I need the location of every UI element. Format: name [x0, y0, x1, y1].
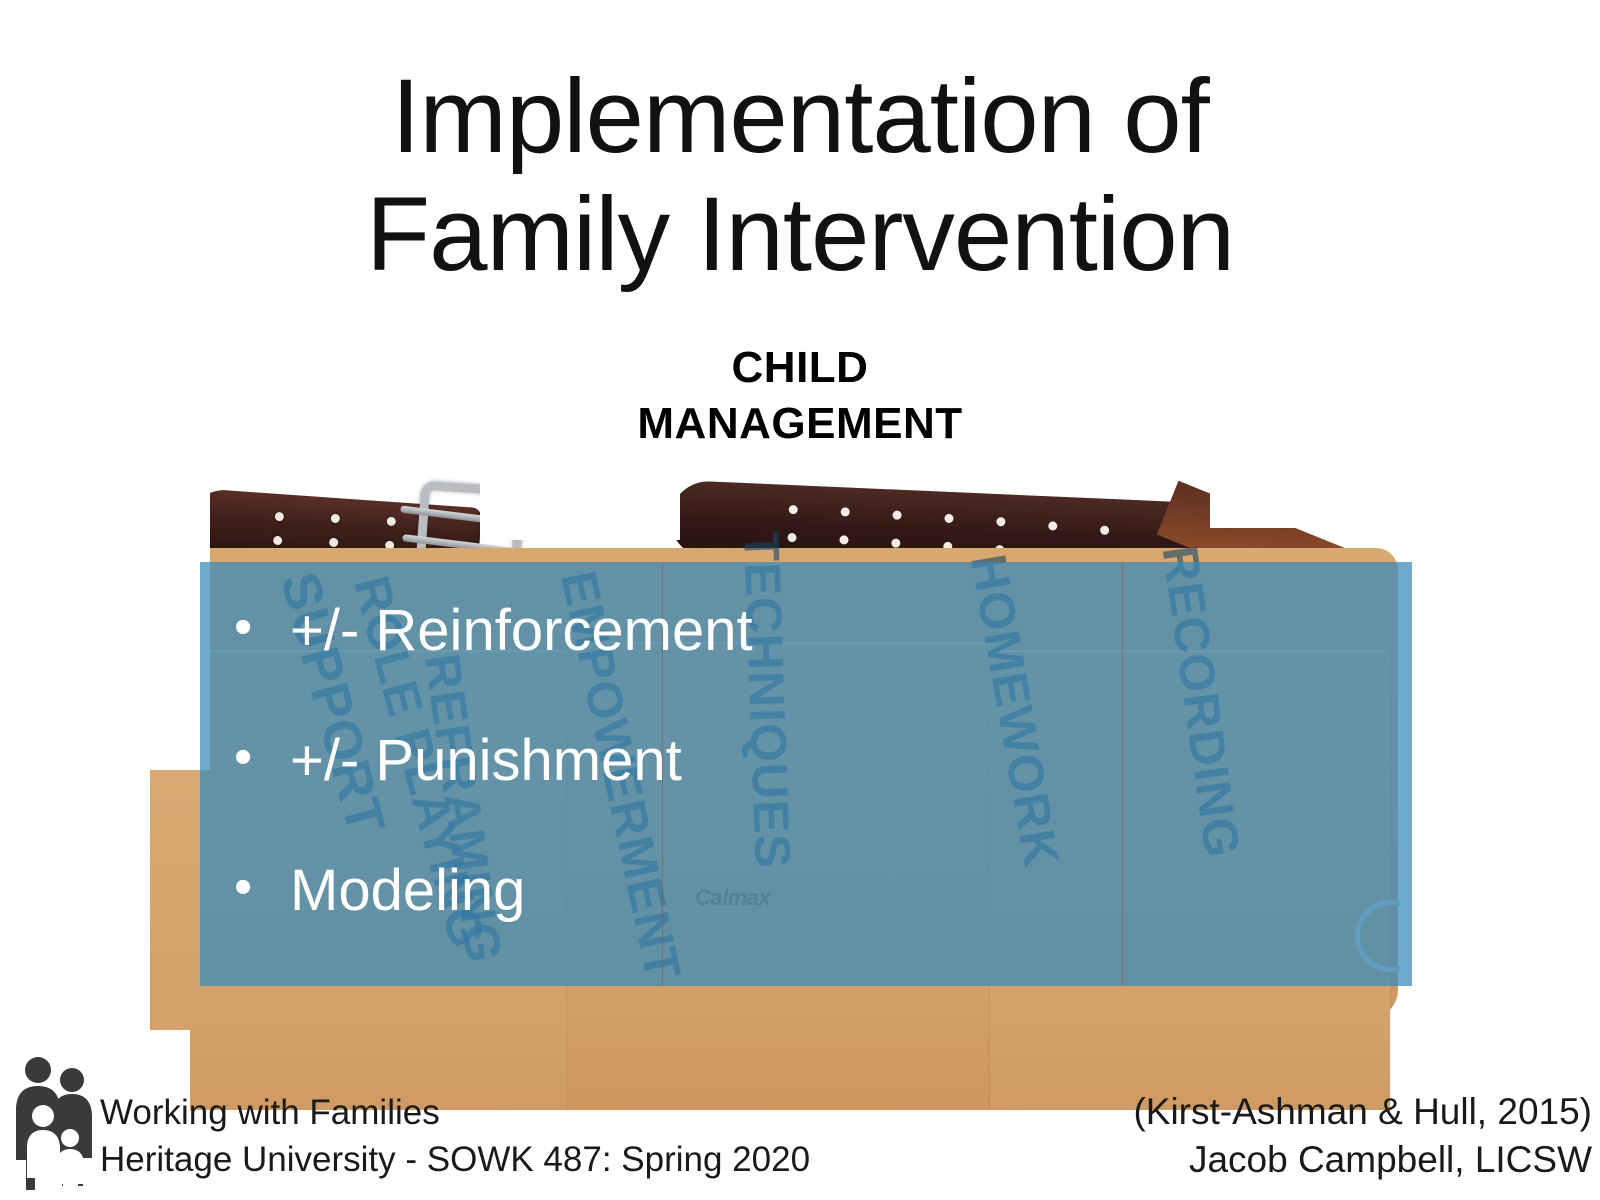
title-line-2: Family Intervention [0, 176, 1600, 294]
bullet-dot-icon: • [234, 861, 290, 913]
page-title: Implementation of Family Intervention [0, 58, 1600, 293]
footer-attribution: (Kirst-Ashman & Hull, 2015) Jacob Campbe… [1133, 1088, 1592, 1184]
family-logo-icon [8, 1054, 104, 1192]
list-item[interactable]: • Modeling [234, 862, 1412, 992]
bullet-label: +/- Reinforcement [290, 602, 753, 660]
footer-course-term: Heritage University - SOWK 487: Spring 2… [100, 1137, 810, 1184]
bullet-list: • +/- Reinforcement • +/- Punishment • M… [200, 562, 1412, 986]
bullet-dot-icon: • [234, 601, 290, 653]
bullet-dot-icon: • [234, 731, 290, 783]
subtitle-line-1: CHILD [0, 340, 1600, 396]
footer-citation: (Kirst-Ashman & Hull, 2015) [1133, 1088, 1592, 1136]
title-line-1: Implementation of [0, 58, 1600, 176]
bullet-label: +/- Punishment [290, 732, 682, 790]
page-subtitle: CHILD MANAGEMENT [0, 340, 1600, 453]
list-item[interactable]: • +/- Punishment [234, 732, 1412, 862]
footer-course-title: Working with Families [100, 1090, 810, 1137]
bullet-label: Modeling [290, 862, 525, 920]
footer-author: Jacob Campbell, LICSW [1133, 1136, 1592, 1184]
footer-course-info: Working with Families Heritage Universit… [100, 1090, 810, 1184]
subtitle-line-2: MANAGEMENT [0, 396, 1600, 452]
slide-canvas: Implementation of Family Intervention CH… [0, 0, 1600, 1200]
list-item[interactable]: • +/- Reinforcement [234, 602, 1412, 732]
